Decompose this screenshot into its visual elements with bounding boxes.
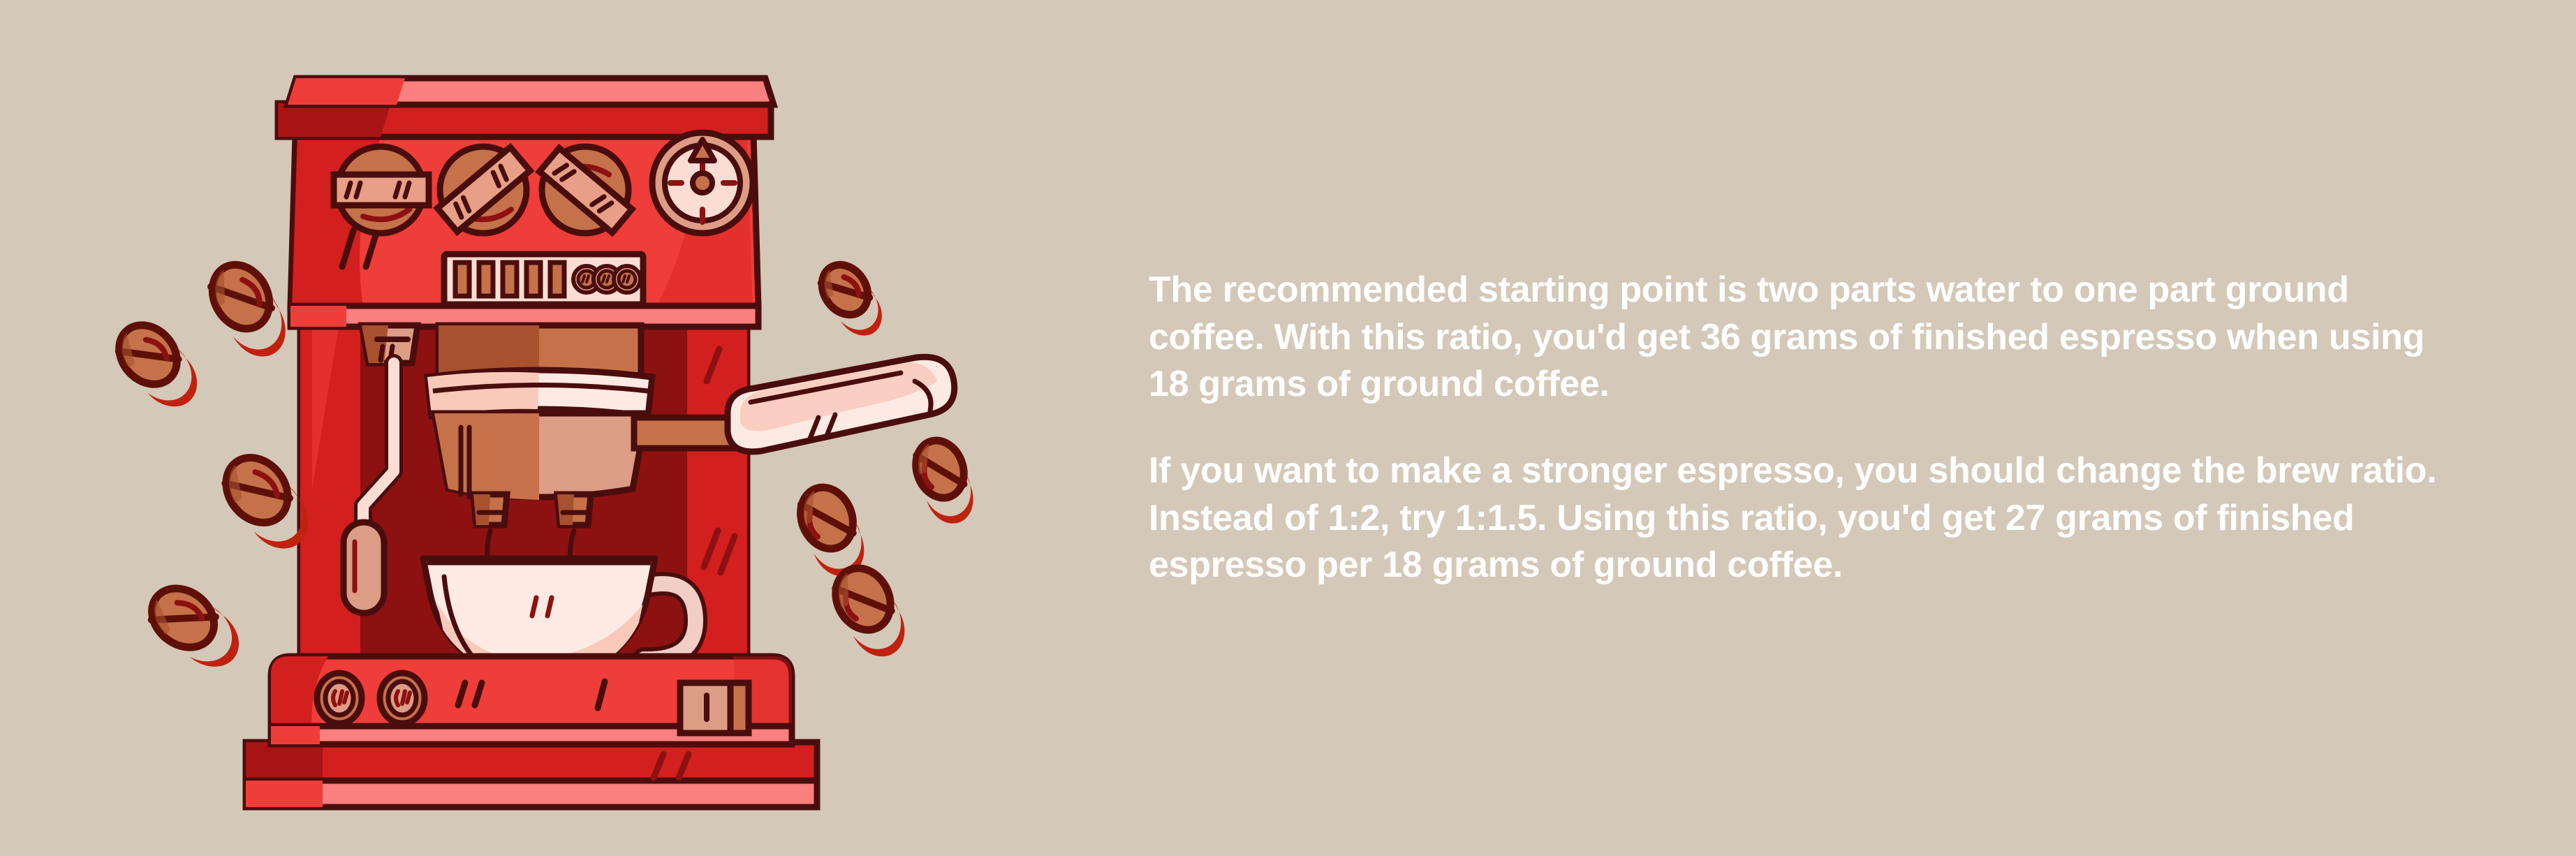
knob-2[interactable]	[438, 147, 530, 233]
machine-top-lid	[278, 78, 774, 137]
illustration-pane	[0, 0, 1089, 856]
base-button-2[interactable]	[380, 673, 425, 723]
base-button-1[interactable]	[317, 673, 362, 723]
control-knobs-group	[334, 147, 632, 233]
machine-base	[271, 656, 796, 744]
coffee-bean	[908, 434, 982, 531]
power-switch[interactable]	[680, 683, 749, 733]
coffee-bean	[825, 559, 916, 666]
espresso-machine-illustration	[0, 0, 1089, 856]
gauge-hub	[693, 173, 712, 193]
group-head	[427, 325, 652, 416]
panel-bars	[455, 263, 564, 296]
portafilter-handle[interactable]	[728, 357, 955, 452]
knob-3[interactable]	[540, 147, 632, 233]
coffee-bean	[108, 313, 209, 418]
text-content-pane: The recommended starting point is two pa…	[1089, 0, 2576, 856]
coffee-bean	[813, 256, 892, 344]
coffee-bean	[140, 576, 251, 679]
paragraph-recommended-ratio: The recommended starting point is two pa…	[1149, 267, 2471, 408]
panel-button-3[interactable]	[614, 266, 640, 293]
page-root: The recommended starting point is two pa…	[0, 0, 2576, 856]
coffee-bean	[201, 254, 297, 367]
button-panel	[444, 254, 643, 304]
knob-1[interactable]	[334, 147, 429, 233]
pressure-gauge	[652, 133, 753, 233]
machine-plinth	[246, 742, 817, 807]
paragraph-stronger-ratio: If you want to make a stronger espresso,…	[1149, 448, 2471, 589]
